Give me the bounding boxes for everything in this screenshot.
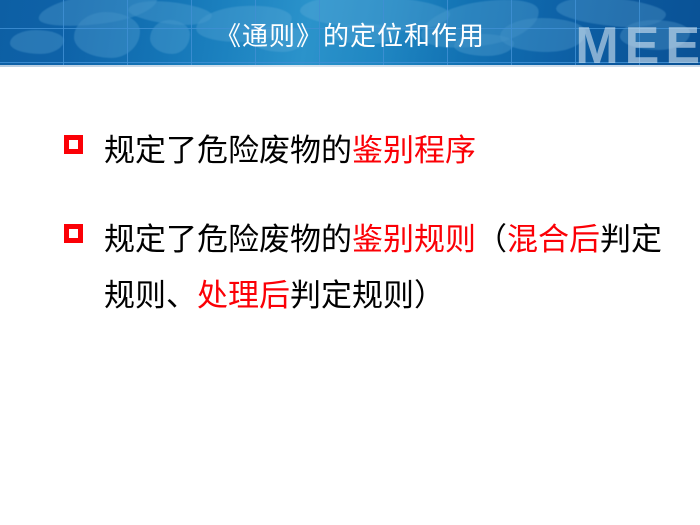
text-segment-highlight: 混合后 bbox=[507, 222, 600, 258]
text-segment-highlight: 鉴别程序 bbox=[352, 133, 476, 169]
slide-body: 规定了危险废物的鉴别程序 规定了危险废物的鉴别规则（混合后判定规则、处理后判定规… bbox=[0, 67, 700, 525]
slide-header-banner: MEE 《通则》的定位和作用 bbox=[0, 0, 700, 67]
text-segment-highlight: 鉴别规则 bbox=[352, 222, 476, 258]
slide: MEE 《通则》的定位和作用 规定了危险废物的鉴别程序 规定了危险废物的鉴别规则… bbox=[0, 0, 700, 525]
text-segment: 规定了危险废物的 bbox=[104, 133, 352, 169]
list-item: 规定了危险废物的鉴别程序 bbox=[64, 123, 664, 179]
square-bullet-icon bbox=[64, 224, 83, 243]
bullet-text-2: 规定了危险废物的鉴别规则（混合后判定规则、处理后判定规则） bbox=[104, 212, 664, 324]
bullet-text-1: 规定了危险废物的鉴别程序 bbox=[104, 123, 664, 179]
text-segment: （ bbox=[476, 222, 507, 258]
text-segment: 判定规则） bbox=[290, 278, 445, 314]
list-item: 规定了危险废物的鉴别规则（混合后判定规则、处理后判定规则） bbox=[64, 212, 664, 324]
page-title: 《通则》的定位和作用 bbox=[0, 19, 700, 53]
text-segment-highlight: 处理后 bbox=[197, 278, 290, 314]
square-bullet-icon bbox=[64, 135, 83, 154]
text-segment: 规定了危险废物的 bbox=[104, 222, 352, 258]
